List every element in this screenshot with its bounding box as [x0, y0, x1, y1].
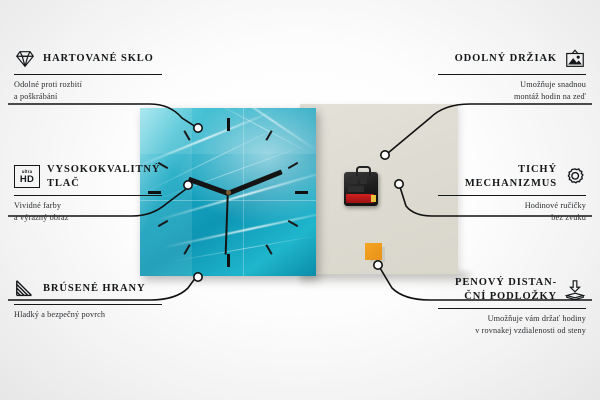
- feature-description: Hodinové ručičky bez zvuku: [438, 200, 586, 224]
- infographic-canvas: HARTOVANÉ SKLO Odolné proti rozbití a po…: [0, 0, 600, 400]
- gear-icon: [564, 166, 586, 188]
- divider: [14, 74, 162, 75]
- divider: [438, 308, 586, 309]
- feature-description: Hladký a bezpečný povrch: [14, 309, 162, 321]
- callout-dot: [194, 273, 202, 281]
- feature-title: PENOVÝ DISTAN-ČNÍ PODLOŽKY: [438, 276, 557, 304]
- feature-description: Umožňuje snadnou montáž hodin na zeď: [438, 79, 586, 103]
- foam-pad-arrow-icon: [564, 279, 586, 301]
- callout-dot: [381, 151, 389, 159]
- feature-description: Umožňuje vám držať hodiny v rovnakej vzd…: [438, 313, 586, 337]
- callout-dot: [395, 180, 403, 188]
- feature-title: TICHÝ MECHANIZMUS: [438, 163, 557, 191]
- feature-high-quality-print: ultra HD VYSOKOKVALITNÝ TLAČ Vividné far…: [14, 163, 162, 224]
- feature-hardened-glass: HARTOVANÉ SKLO Odolné proti rozbití a po…: [14, 48, 162, 103]
- callout-dot: [374, 261, 382, 269]
- feature-durable-hanger: ODOLNÝ DRŽIAK Umožňuje snadnou montáž ho…: [438, 48, 586, 103]
- feature-title: ODOLNÝ DRŽIAK: [455, 52, 557, 66]
- feature-polished-edges: BRÚSENÉ HRANY Hladký a bezpečný povrch: [14, 278, 162, 321]
- diamond-icon: [14, 48, 36, 70]
- feature-foam-spacers: PENOVÝ DISTAN-ČNÍ PODLOŽKY Umožňuje vám …: [438, 276, 586, 337]
- feature-silent-mechanism: TICHÝ MECHANIZMUS Hodinové ručičky bez z…: [438, 163, 586, 224]
- feature-title: HARTOVANÉ SKLO: [43, 52, 154, 66]
- ultra-hd-badge-icon: ultra HD: [14, 165, 40, 188]
- feature-description: Odolné proti rozbití a poškrábání: [14, 79, 162, 103]
- divider: [438, 74, 586, 75]
- divider: [14, 304, 162, 305]
- feature-title: BRÚSENÉ HRANY: [43, 282, 145, 296]
- polished-edges-icon: [14, 278, 36, 300]
- divider: [14, 195, 162, 196]
- wall-hanger-frame-icon: [564, 48, 586, 70]
- callout-dot: [194, 124, 202, 132]
- badge-hd-label: HD: [20, 175, 34, 185]
- feature-description: Vividné farby a výrazný obraz: [14, 200, 162, 224]
- divider: [438, 195, 586, 196]
- callout-dot: [184, 181, 192, 189]
- feature-title: VYSOKOKVALITNÝ TLAČ: [47, 163, 162, 191]
